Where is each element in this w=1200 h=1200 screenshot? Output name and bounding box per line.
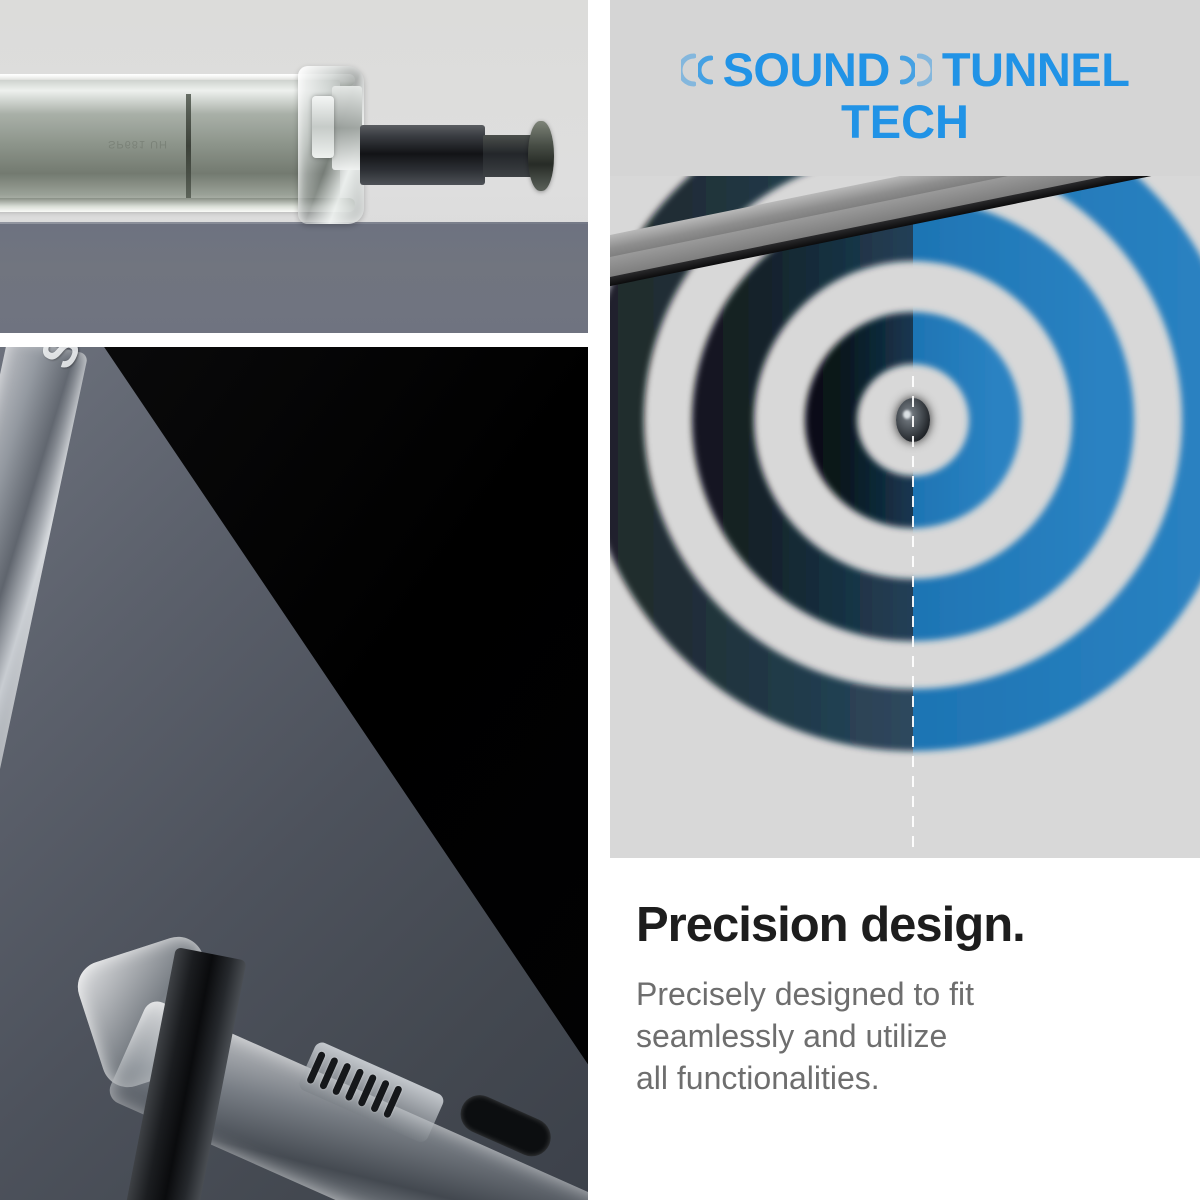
sound-wave-arcs-icon [610, 176, 1200, 858]
s-pen-shaft [360, 125, 485, 185]
clear-case-side-rail [0, 347, 88, 1029]
panel-sound-tunnel: SOUND TUNNEL TECH [610, 0, 1200, 858]
model-marking-text: SP681 UH [108, 138, 168, 150]
panel-pen-insert-top: SP681 UH [0, 0, 588, 333]
backdrop-lower-slate [0, 222, 588, 333]
dashed-center-line-icon [912, 376, 914, 856]
s-pen-neck [483, 135, 533, 177]
title-word-tunnel: TUNNEL [942, 46, 1130, 93]
caption-line-3: all functionalities. [636, 1058, 1176, 1100]
case-cap-notch [332, 86, 362, 170]
sound-wave-right-icon [900, 53, 932, 87]
phone-body-bar [0, 80, 340, 210]
sound-tunnel-header: SOUND TUNNEL TECH [610, 0, 1200, 176]
caption-body: Precisely designed to fit seamlessly and… [636, 974, 1176, 1100]
product-feature-image: SP681 UH Spigen [0, 0, 1200, 1200]
phone-antenna-seam [186, 94, 191, 198]
caption-line-2: seamlessly and utilize [636, 1016, 1176, 1058]
title-word-sound: SOUND [723, 46, 890, 93]
case-cap-inner-cutout [312, 96, 334, 158]
title-row-1: SOUND TUNNEL [681, 46, 1130, 93]
title-word-tech: TECH [841, 97, 969, 148]
panel-case-pen-detail: Spigen [0, 347, 588, 1200]
sound-wave-left-icon [681, 53, 713, 87]
s-pen-end-cap [528, 121, 554, 191]
caption-line-1: Precisely designed to fit [636, 974, 1176, 1016]
sound-wave-stage [610, 176, 1200, 858]
caption-title: Precision design. [636, 900, 1176, 952]
caption-block: Precision design. Precisely designed to … [636, 900, 1176, 1100]
